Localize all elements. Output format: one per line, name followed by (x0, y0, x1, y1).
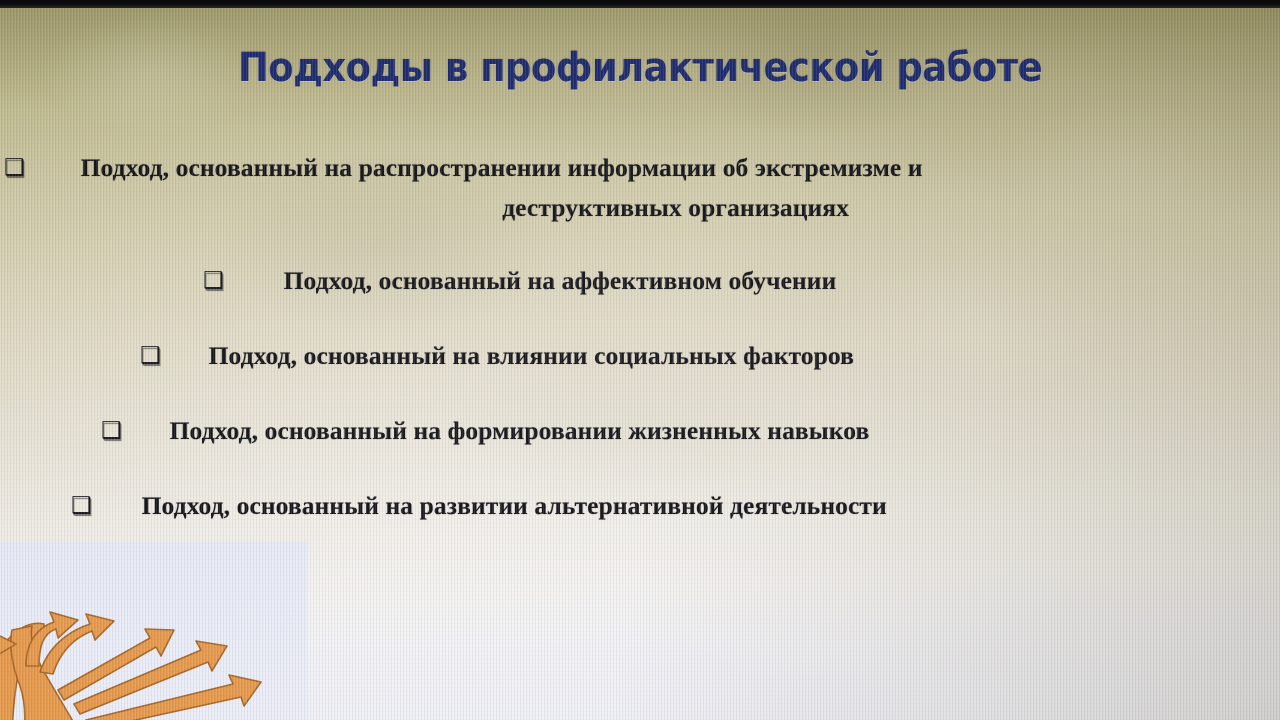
page-title-text: Подходы в профилактической работе (238, 47, 1042, 89)
list-item: ❑ Подход, основанный на распространении … (0, 148, 1280, 228)
bullet-list: ❑ Подход, основанный на распространении … (0, 148, 1280, 526)
monitor-bezel (0, 0, 1280, 8)
list-item: ❑ Подход, основанный на аффективном обуч… (0, 261, 1280, 301)
list-item-line-1: Подход, основанный на распространении ин… (81, 153, 923, 182)
list-item-text: Подход, основанный на распространении ин… (81, 148, 1271, 228)
list-item: ❑ Подход, основанный на влиянии социальн… (0, 336, 1280, 376)
list-item: ❑ Подход, основанный на формировании жиз… (0, 411, 1280, 451)
square-bullet-icon: ❑ (203, 261, 224, 301)
branching-arrows-graphic (0, 580, 312, 720)
list-item-text: Подход, основанный на развитии альтернат… (142, 486, 887, 526)
slide-photo: Подходы в профилактической работе ❑ Подх… (0, 0, 1280, 720)
square-bullet-icon: ❑ (140, 336, 161, 376)
list-item-text: Подход, основанный на формировании жизне… (170, 411, 870, 451)
list-item-line-2: деструктивных организациях (81, 188, 1271, 228)
list-item: ❑ Подход, основанный на развитии альтерн… (0, 486, 1280, 526)
square-bullet-icon: ❑ (71, 486, 92, 526)
list-item-text: Подход, основанный на аффективном обучен… (284, 261, 837, 301)
list-item-text: Подход, основанный на влиянии социальных… (209, 336, 854, 376)
page-title: Подходы в профилактической работе (0, 47, 1280, 89)
square-bullet-icon: ❑ (101, 411, 122, 451)
square-bullet-icon: ❑ (4, 148, 25, 188)
